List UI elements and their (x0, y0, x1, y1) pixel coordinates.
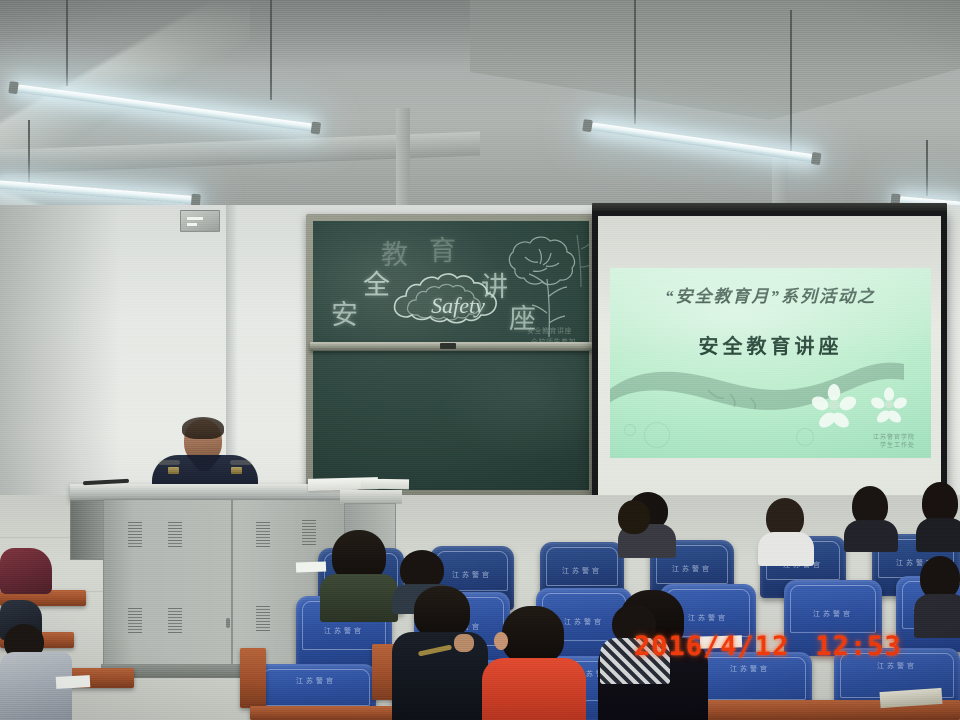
lectern-vent (128, 608, 142, 634)
lectern-papers-secondary (361, 479, 409, 490)
attendee-body (320, 574, 398, 622)
attendee-body (482, 658, 586, 720)
light-hanger-rod (790, 10, 792, 152)
slide-decor-circle-1 (644, 422, 670, 448)
slide-decor-circle-3 (624, 424, 636, 436)
lectern-vent (256, 606, 270, 632)
presentation-slide: “安全教育月”系列活动之 安全教育讲座 (610, 268, 931, 458)
chalk-cloud-bubble: Safety (389, 273, 527, 339)
paper-on-desk-left (56, 675, 91, 689)
classroom-photo: 教 育 安 全 讲 座 Safety (0, 0, 960, 720)
lectern-vent (168, 522, 182, 548)
chalk-tree-drawing (499, 227, 589, 347)
lectern-vent (302, 520, 316, 546)
chalk-char-faint-1: 教 (381, 233, 410, 272)
timestamp-time: 12:53 (815, 631, 901, 662)
chalk-char-zuo: 座 (509, 297, 538, 336)
lentern-vent (256, 522, 270, 548)
attendee-body (916, 518, 960, 552)
attendee-head (414, 586, 470, 638)
attendee-head (618, 500, 650, 534)
lectern-side-shelf (70, 500, 105, 560)
attendee-ear (494, 632, 508, 650)
presenter-badge-right (231, 467, 242, 474)
attendee-front-red (476, 606, 586, 720)
attendee-front-dark (392, 586, 488, 720)
slide-signature-line-1: 江苏警官学院 (873, 434, 915, 442)
slide-blossom-small (868, 385, 910, 432)
light-hanger-rod (270, 0, 272, 100)
presenter-epaulette-right (230, 460, 252, 465)
attendee-hand (454, 634, 474, 652)
slide-signature: 江苏警官学院 学生工作处 (873, 434, 915, 450)
light-hanger-rod (926, 140, 928, 196)
seat-label: 江苏警官 (296, 626, 392, 636)
lectern-vent (168, 608, 182, 634)
ceiling-slab (470, 0, 960, 120)
projection-screen: “安全教育月”系列活动之 安全教育讲座 (592, 203, 947, 500)
projection-screen-frame: “安全教育月”系列活动之 安全教育讲座 (592, 211, 947, 500)
attendee-body (758, 532, 814, 566)
seat-label: 江苏警官 (784, 609, 882, 619)
light-hanger-rod (66, 0, 68, 86)
slide-title-line-1: “安全教育月”系列活动之 (610, 282, 931, 307)
attendee-far-2 (758, 498, 814, 564)
slide-blossom-large (808, 381, 860, 438)
seat-label: 江苏警官 (834, 661, 960, 671)
slide-signature-line-2: 学生工作处 (873, 442, 915, 450)
slide-title-line-2: 安全教育讲座 (610, 330, 931, 359)
projection-screen-surface: “安全教育月”系列活动之 安全教育讲座 (598, 216, 941, 496)
ceiling-post (396, 108, 410, 208)
wall-switch-panel[interactable] (180, 210, 220, 232)
attendee-far-4 (916, 482, 960, 550)
attendee-far-3 (844, 486, 898, 550)
chalk-char-faint-2: 育 (429, 229, 458, 268)
lectern-door-seam (231, 500, 233, 670)
lectern-handle[interactable] (226, 618, 230, 628)
seat-label: 江苏警官 (256, 676, 376, 686)
seat-label: 江苏警官 (650, 564, 734, 574)
chalk-safety-label: Safety (389, 273, 527, 339)
chalk-char-jiang: 讲 (481, 265, 510, 304)
presenter-hair (182, 417, 224, 439)
attendee-body (844, 520, 898, 552)
backpack-maroon (0, 548, 52, 594)
seat-label: 江苏警官 (540, 566, 624, 576)
attendee-far-5 (614, 500, 654, 550)
attendee-head (502, 606, 564, 664)
timestamp-date: 2016/4/12 (634, 631, 789, 662)
blackboard-chalk-ledge (310, 342, 592, 351)
attendee-body (914, 594, 960, 638)
attendee-left-foreground (0, 624, 72, 720)
light-hanger-rod (28, 120, 30, 182)
attendee-right-side (914, 556, 960, 636)
armrest-front-1 (240, 648, 266, 708)
chalk-char-an: 安 (331, 293, 360, 332)
attendee-row2-green (320, 530, 398, 614)
blackboard: 教 育 安 全 讲 座 Safety (306, 214, 596, 497)
chalk-small-note-line-1: 安全教育讲座 (527, 327, 572, 336)
light-hanger-rod (634, 0, 636, 124)
blackboard-surface: 教 育 安 全 讲 座 Safety (313, 221, 589, 490)
chalk-char-quan: 全 (363, 263, 392, 302)
lectern-vent (128, 522, 142, 548)
presenter-epaulette-left (158, 460, 180, 465)
camera-timestamp: 2016/4/1212:53 (634, 631, 902, 662)
presenter-badge-left (168, 467, 179, 474)
side-counter (340, 490, 402, 504)
